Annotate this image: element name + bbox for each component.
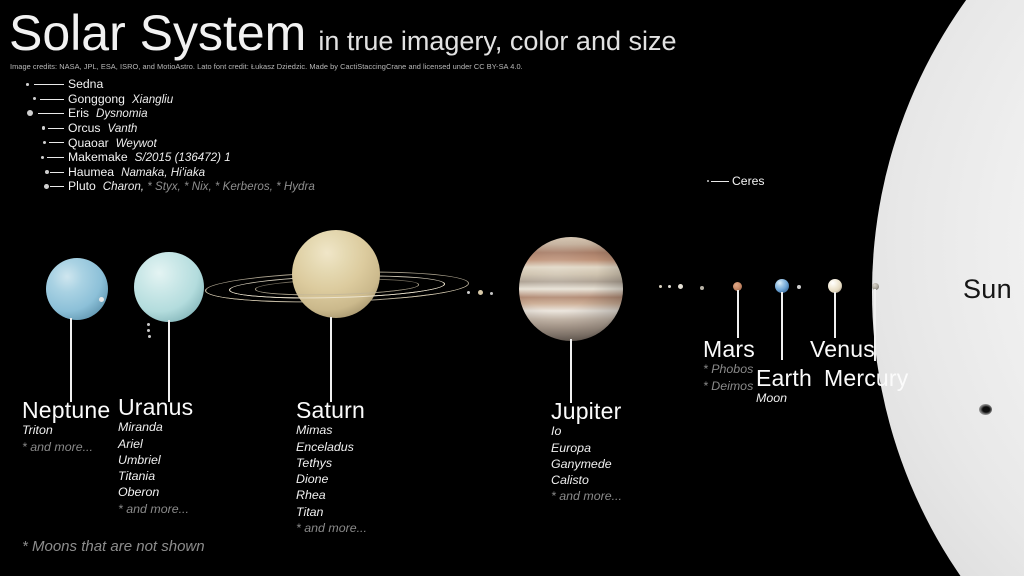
dwarf-planet-dot <box>43 141 46 144</box>
title-main: Solar System <box>9 8 306 58</box>
moon-europa <box>668 285 671 288</box>
moon-label: Oberon <box>118 484 193 500</box>
label-mars: Mars* Phobos* Deimos <box>703 338 755 394</box>
moon-label: Miranda <box>118 419 193 435</box>
moon-label: Io <box>551 423 622 439</box>
dwarf-planet-row: MakemakeS/2015 (136472) 1 <box>0 150 315 165</box>
title-subtitle: in true imagery, color and size <box>318 28 676 55</box>
moon-ganymede <box>678 284 683 289</box>
moon-label: Mimas <box>296 422 367 438</box>
ceres-leader-line <box>711 181 729 182</box>
dwarf-planet-list: SednaGonggongXiangliuErisDysnomiaOrcusVa… <box>0 77 315 194</box>
dwarf-planet-dot <box>42 126 45 129</box>
moon-label: Dione <box>296 471 367 487</box>
moon-label: Triton <box>22 422 110 438</box>
dwarf-planet-dot <box>27 110 33 116</box>
dwarf-planet-moons: Charon, * Styx, * Nix, * Kerberos, * Hyd… <box>103 180 315 193</box>
dwarf-planet-moons-known: Xiangliu <box>132 93 173 106</box>
dwarf-planet-row: GonggongXiangliu <box>0 92 315 107</box>
planet-name-earth: Earth <box>756 367 812 390</box>
moon-uranus-3 <box>148 335 151 338</box>
dwarf-planet-moons: S/2015 (136472) 1 <box>135 151 231 164</box>
ceres-callout: Ceres <box>707 174 765 188</box>
planet-name-uranus: Uranus <box>118 396 193 419</box>
moon-io <box>659 285 662 288</box>
moon-label: Titania <box>118 468 193 484</box>
dwarf-planet-row: Sedna <box>0 77 315 92</box>
dwarf-planet-moons-hidden: * Styx, * Nix, * Kerberos, * Hydra <box>144 180 315 193</box>
label-uranus: UranusMirandaArielUmbrielTitaniaOberon* … <box>118 396 193 517</box>
jupiter-shading <box>519 237 623 341</box>
dwarf-planet-name: Orcus <box>68 121 101 135</box>
dwarf-planet-leader-line <box>50 172 64 173</box>
moon-label-hidden: * Phobos <box>703 361 755 377</box>
dwarf-planet-row: QuaoarWeywot <box>0 135 315 150</box>
moon-saturn-1 <box>467 291 470 294</box>
moon-saturn-2 <box>478 290 483 295</box>
dwarf-planet-moons: Dysnomia <box>96 107 148 120</box>
planet-uranus <box>134 252 204 322</box>
ceres-dot <box>707 180 709 182</box>
planet-name-mercury: Mercury <box>824 367 908 390</box>
moon-label: Tethys <box>296 455 367 471</box>
footnote-moons-not-shown: * Moons that are not shown <box>22 538 205 555</box>
solar-system-poster: Sun Solar System in true imagery, color … <box>0 0 1024 576</box>
moon-label: Ganymede <box>551 456 622 472</box>
label-saturn: SaturnMimasEnceladusTethysDioneRheaTitan… <box>296 399 367 536</box>
planet-saturn <box>292 230 380 318</box>
dwarf-planet-name: Pluto <box>68 179 96 193</box>
dwarf-planet-moons-known: Namaka, Hi'iaka <box>121 166 205 179</box>
dwarf-planet-leader-line <box>34 84 64 85</box>
dwarf-planet-leader-line <box>49 142 64 143</box>
dwarf-planet-dot <box>45 170 49 174</box>
dwarf-planet-moons-known: Dysnomia <box>96 107 148 120</box>
moon-label-hidden: * and more... <box>296 520 367 536</box>
moon-label-hidden: * Deimos <box>703 378 755 394</box>
label-mercury: Mercury <box>824 367 908 390</box>
dwarf-planet-leader-line <box>40 99 64 100</box>
moon-label: Titan <box>296 504 367 520</box>
jupiter-stem <box>570 339 572 403</box>
planet-neptune <box>46 258 108 320</box>
planet-earth <box>775 279 789 293</box>
dwarf-planet-row: PlutoCharon, * Styx, * Nix, * Kerberos, … <box>0 179 315 194</box>
mars-stem <box>737 290 739 338</box>
label-venus: Venus <box>810 338 875 361</box>
poster-title: Solar System in true imagery, color and … <box>9 8 677 58</box>
dwarf-planet-dot <box>26 83 29 86</box>
dwarf-planet-leader-line <box>47 157 64 158</box>
planet-name-mars: Mars <box>703 338 755 361</box>
dwarf-planet-leader-line <box>50 186 64 187</box>
moon-calisto <box>700 286 704 290</box>
venus-stem <box>834 292 836 338</box>
saturn-stem <box>330 317 332 402</box>
dwarf-planet-row: OrcusVanth <box>0 121 315 136</box>
moon-label: Umbriel <box>118 452 193 468</box>
label-neptune: NeptuneTriton* and more... <box>22 399 110 455</box>
planet-name-saturn: Saturn <box>296 399 367 422</box>
dwarf-planet-moons-known: S/2015 (136472) 1 <box>135 151 231 164</box>
dwarf-planet-moons-known: Weywot <box>116 137 157 150</box>
planet-name-venus: Venus <box>810 338 875 361</box>
dwarf-planet-dot <box>41 156 44 159</box>
ceres-label: Ceres <box>732 174 765 188</box>
uranus-stem <box>168 320 170 402</box>
moon-saturn-3 <box>490 292 493 295</box>
planet-name-jupiter: Jupiter <box>551 400 622 423</box>
dwarf-planet-row: ErisDysnomia <box>0 106 315 121</box>
dwarf-planet-name: Makemake <box>68 150 128 164</box>
dwarf-planet-moons: Weywot <box>116 137 157 150</box>
dwarf-planet-name: Gonggong <box>68 92 125 106</box>
moon-label: Ariel <box>118 436 193 452</box>
moon-label: Calisto <box>551 472 622 488</box>
moon-luna <box>797 285 801 289</box>
dwarf-planet-name: Eris <box>68 106 89 120</box>
dwarf-planet-name: Haumea <box>68 165 114 179</box>
moon-uranus-2 <box>147 329 150 332</box>
label-earth: EarthMoon <box>756 367 812 407</box>
moon-label: Europa <box>551 440 622 456</box>
dwarf-planet-dot <box>44 184 49 189</box>
sun-label: Sun <box>963 274 1012 305</box>
moon-label: Moon <box>756 390 812 406</box>
dwarf-planet-moons-known: Charon, <box>103 180 144 193</box>
image-credits: Image credits: NASA, JPL, ESA, ISRO, and… <box>10 62 523 71</box>
dwarf-planet-name: Sedna <box>68 77 103 91</box>
moon-label-hidden: * and more... <box>22 439 110 455</box>
earth-stem <box>781 292 783 360</box>
dwarf-planet-dot <box>33 97 36 100</box>
moon-uranus-1 <box>147 323 150 326</box>
dwarf-planet-moons: Vanth <box>108 122 138 135</box>
planet-venus <box>828 279 842 293</box>
moon-label: Enceladus <box>296 439 367 455</box>
sunspot <box>979 404 992 415</box>
moon-label: Rhea <box>296 487 367 503</box>
dwarf-planet-leader-line <box>48 128 64 129</box>
dwarf-planet-row: HaumeaNamaka, Hi'iaka <box>0 165 315 180</box>
moon-triton <box>99 297 104 302</box>
planet-name-neptune: Neptune <box>22 399 110 422</box>
dwarf-planet-name: Quaoar <box>68 136 109 150</box>
dwarf-planet-moons-known: Vanth <box>108 122 138 135</box>
moon-label-hidden: * and more... <box>118 501 193 517</box>
dwarf-planet-moons: Namaka, Hi'iaka <box>121 166 205 179</box>
dwarf-planet-moons: Xiangliu <box>132 93 173 106</box>
dwarf-planet-leader-line <box>38 113 64 114</box>
label-jupiter: JupiterIoEuropaGanymedeCalisto* and more… <box>551 400 622 505</box>
neptune-stem <box>70 318 72 402</box>
moon-label-hidden: * and more... <box>551 488 622 504</box>
